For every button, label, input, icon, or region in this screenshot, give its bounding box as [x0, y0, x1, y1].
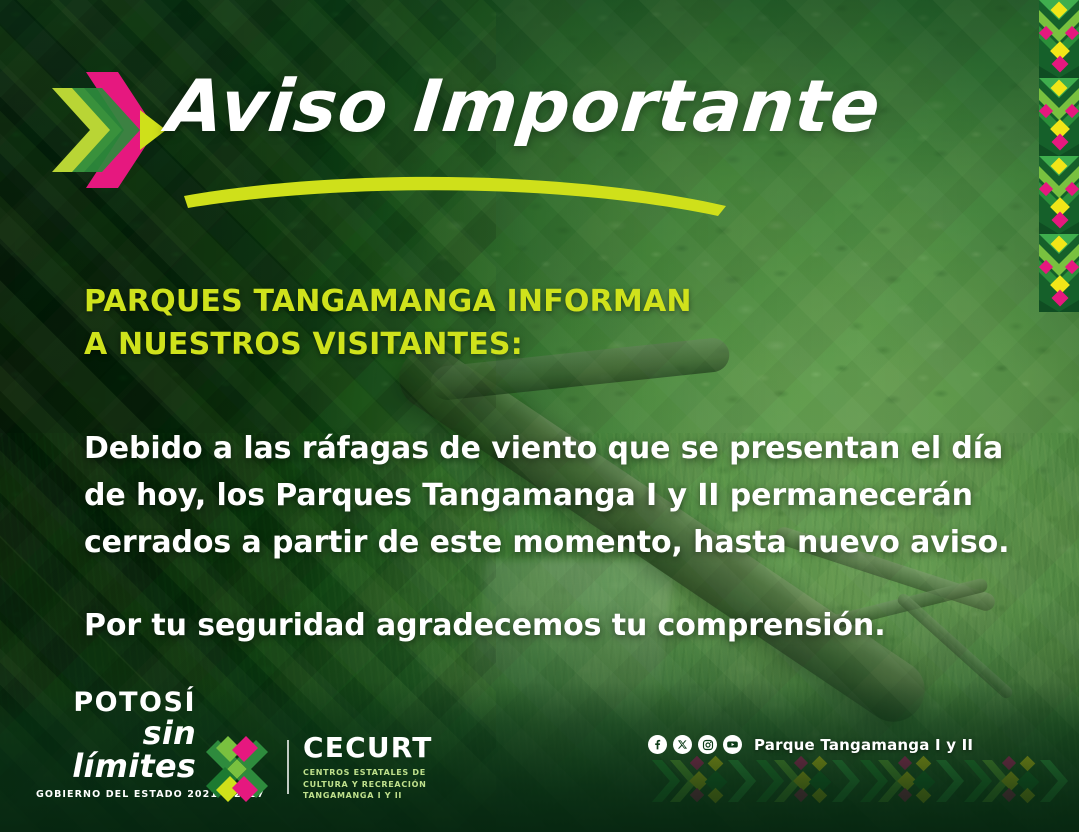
announcement-closing: Por tu seguridad agradecemos tu comprens…	[84, 608, 994, 643]
potosi-line-1: POTOSÍ	[36, 689, 196, 716]
cecurt-subtitle-line-1: CENTROS ESTATALES DE	[303, 767, 433, 779]
announcement-heading: PARQUES TANGAMANGA INFORMAN A NUESTROS V…	[84, 281, 784, 366]
page-title: Aviso Importante	[164, 70, 772, 142]
poster-canvas: Aviso Importante PARQUES TANGAMANGA INFO…	[0, 0, 1079, 832]
potosi-line-3: GOBIERNO DEL ESTADO 2021 • 2027	[36, 789, 196, 800]
vertical-pattern-strip	[1039, 0, 1079, 312]
body-line-1: Debido a las ráfagas de viento que se pr…	[84, 426, 994, 473]
social-handle: Parque Tangamanga I y II	[754, 736, 973, 754]
potosi-star-emblem-icon	[202, 734, 272, 804]
cecurt-logo: CECURT CENTROS ESTATALES DE CULTURA Y RE…	[303, 734, 433, 802]
body-line-3: cerrados a partir de este momento, hasta…	[84, 520, 994, 567]
poster-header: Aviso Importante	[0, 0, 1079, 230]
facebook-icon[interactable]	[648, 735, 667, 754]
title-underline-swoosh	[178, 162, 738, 218]
instagram-icon[interactable]	[698, 735, 717, 754]
poster-footer: POTOSÍ sin límites GOBIERNO DEL ESTADO 2…	[0, 682, 1079, 832]
heading-line-1: PARQUES TANGAMANGA INFORMAN	[84, 281, 784, 324]
chevron-logo-icon	[44, 62, 166, 198]
potosi-logo: POTOSÍ sin límites GOBIERNO DEL ESTADO 2…	[36, 689, 196, 800]
announcement-body: Debido a las ráfagas de viento que se pr…	[84, 426, 994, 566]
footer-divider	[287, 740, 289, 794]
heading-line-2: A NUESTROS VISITANTES:	[84, 324, 784, 367]
youtube-icon[interactable]	[723, 735, 742, 754]
title-block: Aviso Importante	[168, 70, 768, 220]
potosi-line-2: sin límites	[36, 717, 196, 784]
body-line-2: de hoy, los Parques Tangamanga I y II pe…	[84, 473, 994, 520]
cecurt-name: CECURT	[303, 734, 433, 762]
cecurt-subtitle: CENTROS ESTATALES DE CULTURA Y RECREACIÓ…	[303, 767, 433, 802]
x-icon[interactable]	[673, 735, 692, 754]
cecurt-subtitle-line-2: CULTURA Y RECREACIÓN	[303, 779, 433, 791]
cecurt-subtitle-line-3: TANGAMANGA I Y II	[303, 790, 433, 802]
social-bar: Parque Tangamanga I y II	[648, 735, 973, 754]
